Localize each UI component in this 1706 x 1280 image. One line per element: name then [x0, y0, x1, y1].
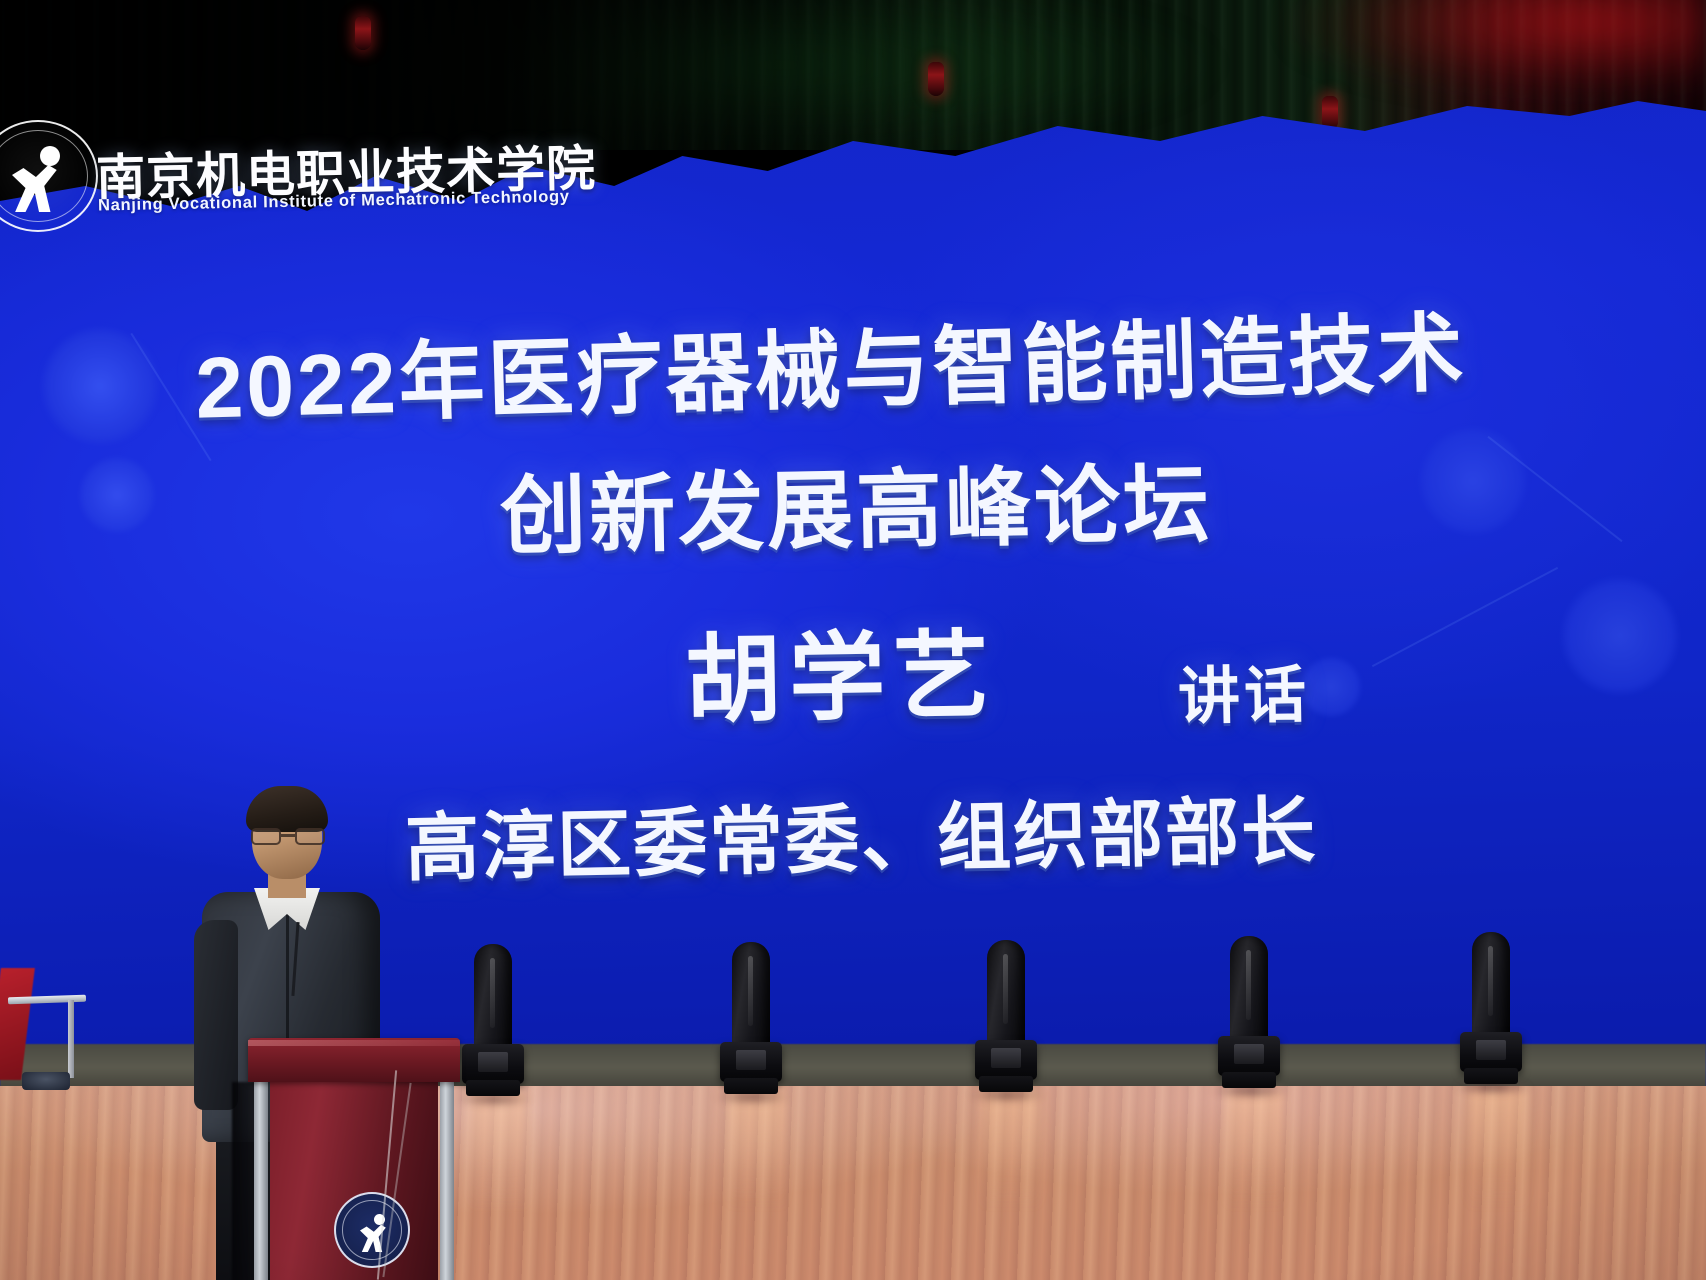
podium-leg [254, 1082, 268, 1280]
floor-reflection [1468, 1090, 1526, 1210]
speaker-action: 讲话 [1177, 644, 1310, 736]
speaker-name: 胡学艺 [684, 598, 998, 742]
podium-leg [440, 1082, 454, 1280]
emblem-figure-icon [10, 146, 66, 212]
speaking-podium [248, 1038, 460, 1280]
institution-emblem-icon [0, 120, 98, 232]
eyeglasses-icon [250, 828, 326, 845]
floor-reflection [982, 1090, 1040, 1210]
floor-reflection [728, 1090, 786, 1210]
presenter-hair [246, 786, 328, 832]
floor-reflection [470, 1090, 528, 1210]
presenter-at-podium [190, 770, 460, 1280]
side-stand-prop [0, 962, 88, 1092]
forum-title-line-2: 创新发展高峰论坛 [499, 434, 1213, 571]
institution-logo: 南京机电职业技术学院 Nanjing Vocational Institute … [0, 118, 560, 233]
floor-reflection [1226, 1090, 1284, 1210]
conference-stage-photo: 南京机电职业技术学院 Nanjing Vocational Institute … [0, 0, 1706, 1280]
forum-title-line-1: 2022年医疗器械与智能制造技术 [194, 282, 1468, 442]
podium-top-surface [248, 1038, 460, 1082]
speaker-role: 高淳区委常委、组织部部长 [404, 771, 1318, 895]
podium-body [270, 1080, 438, 1280]
podium-emblem-icon [334, 1192, 410, 1268]
